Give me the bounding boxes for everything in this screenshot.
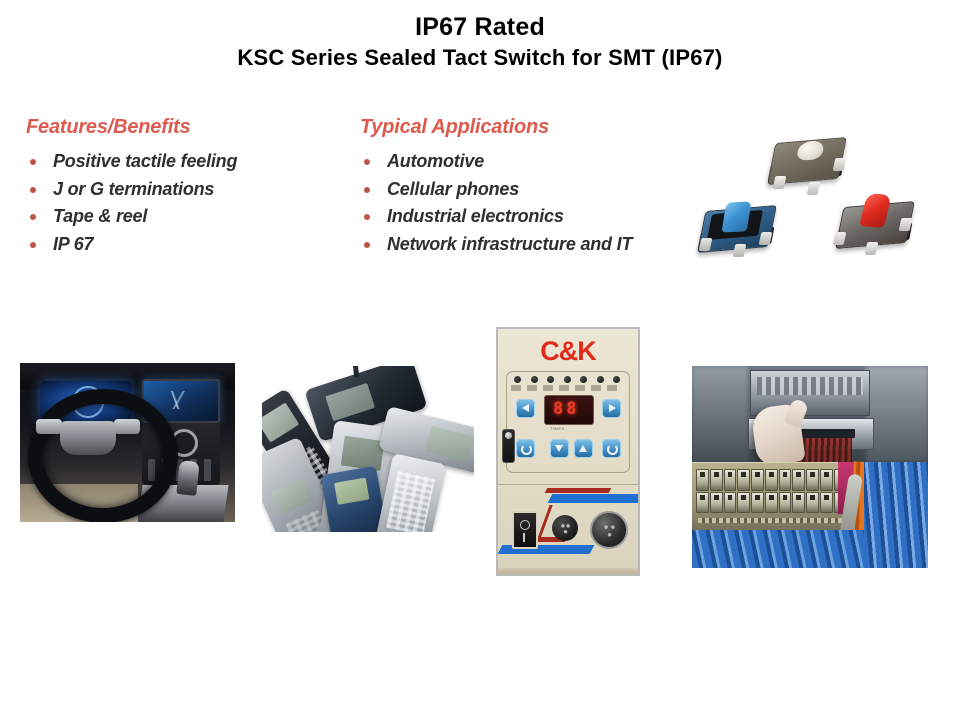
blue-cable-bundle-right — [864, 462, 928, 568]
connector-pins — [559, 522, 572, 535]
din-connector-small — [552, 515, 578, 541]
phone-screen — [334, 478, 369, 505]
panel-indicator-leds — [514, 375, 620, 384]
led-indicator — [613, 376, 620, 383]
led-indicator — [580, 376, 587, 383]
slide-title-block: IP67 Rated KSC Series Sealed Tact Switch… — [0, 12, 960, 72]
list-item: Automotive — [360, 148, 690, 176]
switch-smt-pin — [833, 158, 847, 171]
rj45-port — [806, 469, 819, 491]
list-item-label: Cellular phones — [387, 179, 519, 199]
reverse-button[interactable] — [516, 399, 535, 418]
list-item: Cellular phones — [360, 176, 690, 204]
steering-spoke-left — [36, 419, 62, 434]
applications-heading: Typical Applications — [360, 116, 690, 139]
panel-lower-section — [498, 485, 638, 571]
rj45-port — [765, 469, 778, 491]
page-title-primary: IP67 Rated — [0, 12, 960, 42]
rj45-port — [792, 492, 805, 514]
rj45-port — [820, 469, 833, 491]
ck-brand-logo: C&K — [498, 336, 638, 367]
patch-panel-led-strip — [698, 518, 858, 523]
rj45-port — [806, 492, 819, 514]
rj45-port — [751, 469, 764, 491]
display-value: 88 — [553, 399, 579, 419]
typical-applications-column: Typical Applications Automotive Cellular… — [360, 116, 690, 258]
bullet-dot-icon — [30, 159, 36, 165]
power-rocker-switch[interactable] — [512, 511, 538, 549]
led-indicator — [531, 376, 538, 383]
led-indicator — [514, 376, 521, 383]
switch-smt-pin — [733, 244, 747, 257]
bullet-dot-icon — [30, 187, 36, 193]
olive-gray-tact-switch — [764, 128, 850, 192]
blue-tact-switch — [694, 196, 780, 260]
mode-button[interactable] — [516, 439, 535, 458]
rj45-port-grid — [696, 469, 860, 513]
din-connector-large — [590, 511, 628, 549]
steering-spoke-right — [114, 419, 140, 434]
steering-wheel-hub — [60, 421, 116, 455]
red-stripe-decal — [545, 488, 612, 493]
rj45-port — [696, 492, 709, 514]
rj45-port — [737, 492, 750, 514]
switch-smt-pin — [865, 242, 879, 255]
rj45-port — [779, 469, 792, 491]
rj45-port — [724, 469, 737, 491]
forward-button[interactable] — [602, 399, 621, 418]
phone-screen — [325, 383, 375, 421]
bullet-dot-icon — [30, 242, 36, 248]
rj45-port — [751, 492, 764, 514]
steering-wheel — [28, 389, 178, 522]
gear-shifter — [176, 460, 199, 496]
automotive-dashboard-photo — [20, 363, 235, 522]
bullet-dot-icon — [364, 214, 370, 220]
network-infrastructure-photo — [692, 366, 928, 568]
seven-segment-display: 88 — [544, 395, 594, 425]
list-item-label: Tape & reel — [53, 206, 147, 226]
bullet-dot-icon — [364, 242, 370, 248]
tact-switches-photo — [692, 126, 944, 278]
switch-plunger — [721, 201, 751, 232]
rj45-port — [792, 469, 805, 491]
rj45-port — [737, 469, 750, 491]
features-heading: Features/Benefits — [26, 116, 336, 139]
decrement-button[interactable] — [550, 439, 569, 458]
phone-screen — [425, 426, 474, 462]
connector-pins — [601, 522, 618, 539]
list-item: Industrial electronics — [360, 203, 690, 231]
led-indicator — [547, 376, 554, 383]
page-title-secondary: KSC Series Sealed Tact Switch for SMT (I… — [0, 44, 960, 72]
timer-label: TIMER — [550, 426, 565, 431]
list-item-label: IP 67 — [53, 234, 93, 254]
list-item-label: Network infrastructure and IT — [387, 234, 632, 254]
list-item-label: Automotive — [387, 151, 484, 171]
rj45-port — [820, 492, 833, 514]
server-rack — [692, 366, 928, 462]
rj45-port — [779, 492, 792, 514]
led-indicator — [597, 376, 604, 383]
industrial-control-panel-photo: C&K 88 TIMER — [496, 327, 640, 576]
bullet-dot-icon — [30, 214, 36, 220]
rack-frame-right — [866, 366, 928, 462]
applications-list: Automotive Cellular phones Industrial el… — [360, 148, 690, 258]
rj45-port — [765, 492, 778, 514]
phone-screen — [262, 402, 299, 442]
list-item-label: Industrial electronics — [387, 206, 564, 226]
led-indicator — [564, 376, 571, 383]
blue-ethernet-cables — [692, 530, 864, 568]
reset-button[interactable] — [602, 439, 621, 458]
rj45-port — [696, 469, 709, 491]
list-item-label: J or G terminations — [53, 179, 214, 199]
panel-bottom-edge — [498, 568, 638, 574]
rj45-port — [710, 492, 723, 514]
phone-screen — [341, 436, 385, 471]
bullet-dot-icon — [364, 159, 370, 165]
list-item-label: Positive tactile feeling — [53, 151, 237, 171]
list-item: Positive tactile feeling — [26, 148, 336, 176]
panel-led-labels — [511, 385, 623, 391]
phone-antenna — [352, 366, 360, 378]
list-item: IP 67 — [26, 231, 336, 259]
switch-smt-pin — [807, 182, 821, 195]
bullet-dot-icon — [364, 187, 370, 193]
list-item: Tape & reel — [26, 203, 336, 231]
switch-smt-pin — [773, 176, 787, 189]
toggle-switch[interactable] — [502, 429, 515, 463]
candybar-phone-blue — [321, 466, 388, 532]
rj45-port — [710, 469, 723, 491]
list-item: J or G terminations — [26, 176, 336, 204]
phone-screen — [271, 478, 314, 515]
phone-keypad — [386, 471, 435, 532]
features-benefits-column: Features/Benefits Positive tactile feeli… — [26, 116, 336, 258]
blue-stripe-decal — [548, 494, 640, 503]
list-item: Network infrastructure and IT — [360, 231, 690, 259]
rj45-port — [724, 492, 737, 514]
cellular-phones-photo — [262, 366, 474, 532]
increment-button[interactable] — [574, 439, 593, 458]
features-list: Positive tactile feeling J or G terminat… — [26, 148, 336, 258]
rack-frame-left — [692, 366, 748, 462]
red-tact-switch — [832, 192, 918, 256]
